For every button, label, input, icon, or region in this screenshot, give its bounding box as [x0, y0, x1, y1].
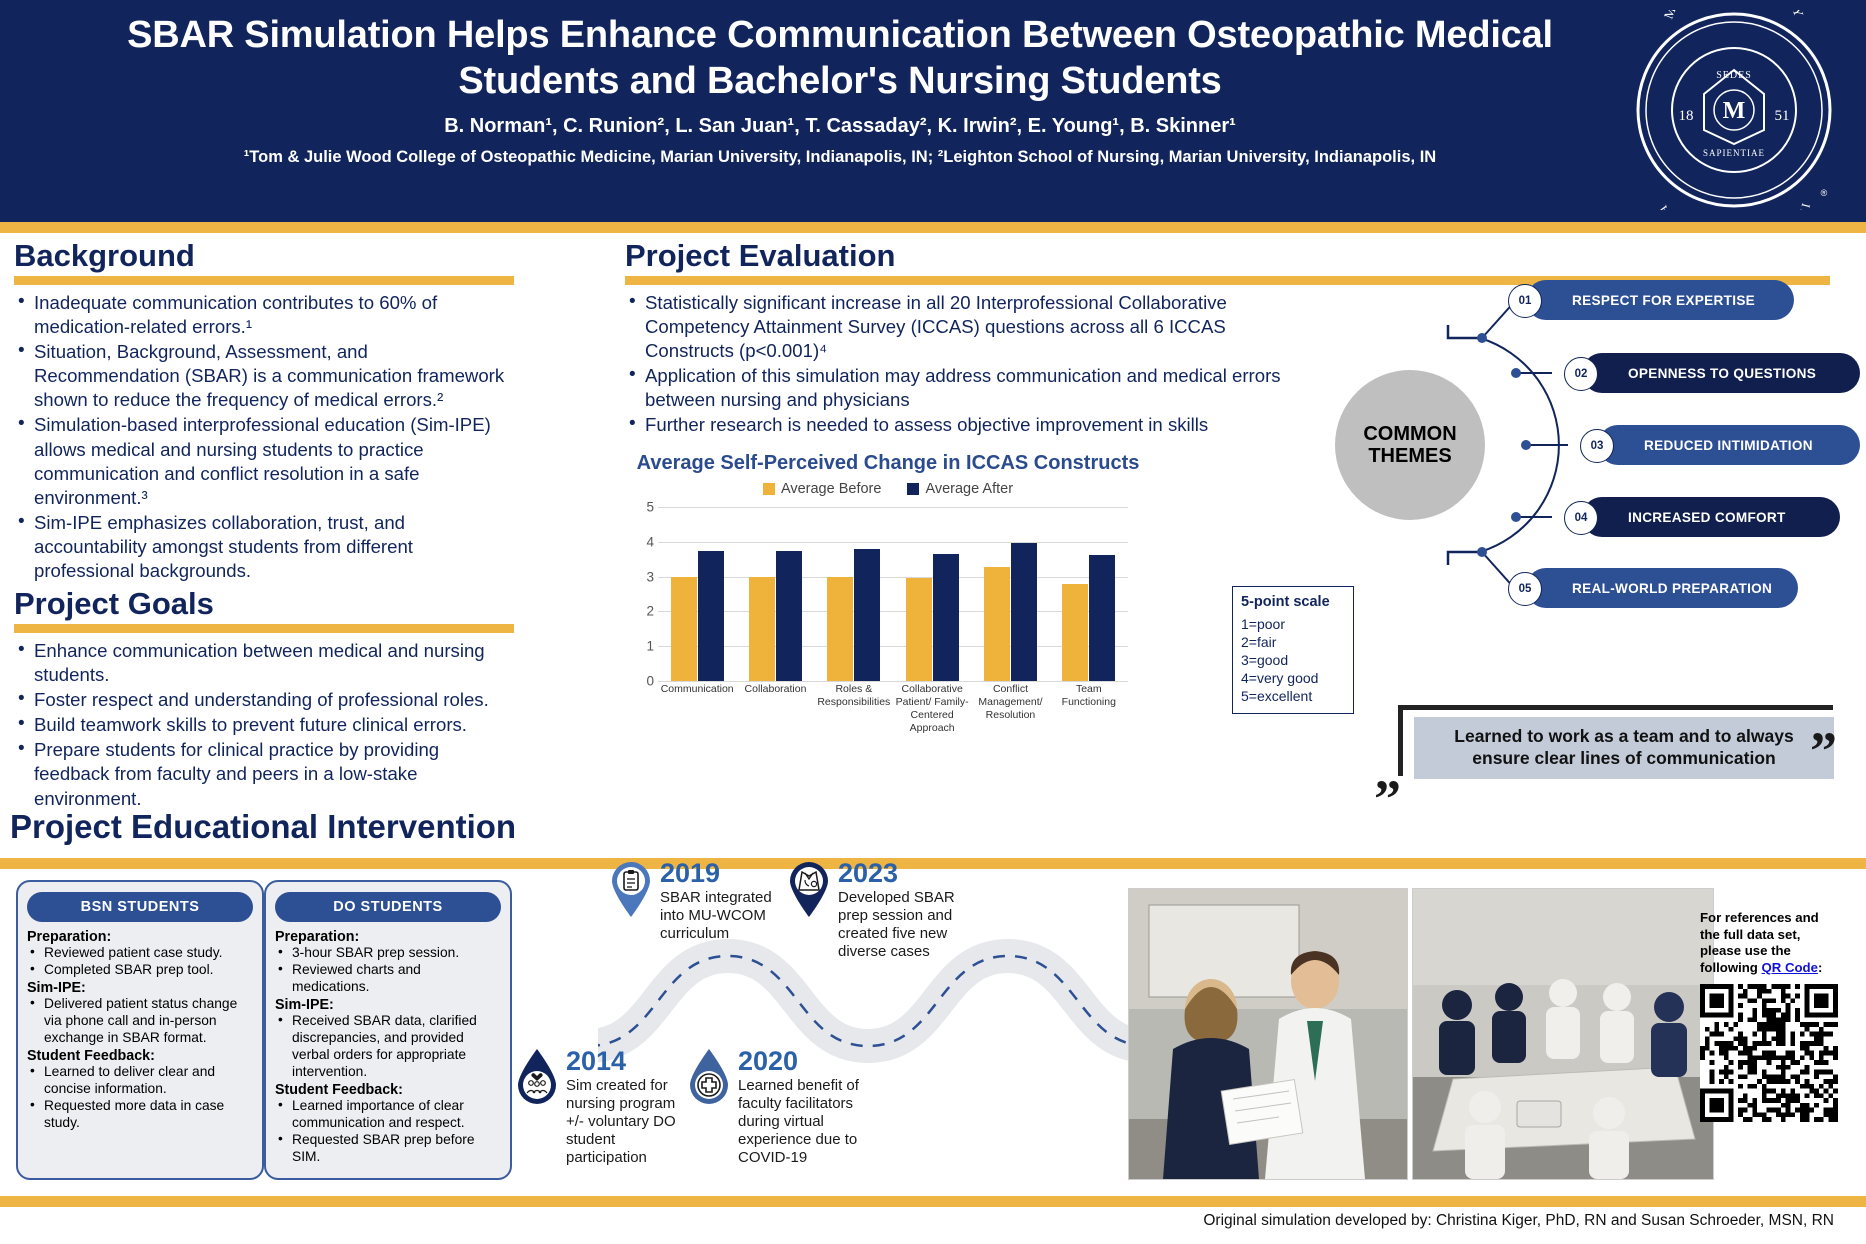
legend-label-after: Average After — [925, 481, 1013, 497]
qr-code-link[interactable]: QR Code — [1762, 960, 1818, 975]
theme-number-02: 02 — [1564, 357, 1598, 391]
chart-y-axis: 5 4 3 2 1 0 — [628, 507, 658, 681]
theme-pill-05: REAL-WORLD PREPARATION — [1526, 568, 1798, 608]
theme-label: OPENNESS TO QUESTIONS — [1628, 366, 1816, 381]
qr-caption-line-3: please use the — [1700, 943, 1850, 960]
lab-coat-stethoscope-icon — [786, 860, 832, 918]
card-section-list: Learned to deliver clear and concise inf… — [27, 1064, 253, 1132]
theme-pill-02: OPENNESS TO QUESTIONS — [1582, 353, 1860, 393]
x-tick-label: Team Functioning — [1050, 683, 1128, 736]
svg-text:18: 18 — [1679, 108, 1694, 124]
qr-code-block: For references and the full data set, pl… — [1700, 910, 1850, 1127]
list-item: Build teamwork skills to prevent future … — [14, 713, 514, 737]
goals-bullet-list: Enhance communication between medical an… — [14, 639, 514, 811]
x-tick-label: Roles & Responsibilities — [815, 683, 893, 736]
list-item: Reviewed patient case study. — [27, 945, 253, 962]
theme-pill-01: RESPECT FOR EXPERTISE — [1526, 280, 1794, 320]
y-tick: 2 — [646, 604, 654, 619]
bar-group — [749, 507, 802, 681]
project-timeline: 2019 SBAR integrated into MU-WCOM curric… — [598, 866, 1138, 1196]
medical-cross-icon — [686, 1048, 732, 1106]
list-item: Sim-IPE emphasizes collaboration, trust,… — [14, 511, 514, 584]
card-section-label: Preparation: — [275, 929, 501, 945]
background-heading: Background — [14, 240, 514, 273]
bar-group — [1062, 507, 1115, 681]
qr-caption-line-2: the full data set, — [1700, 927, 1850, 944]
y-tick: 1 — [646, 639, 654, 654]
bsn-students-card: BSN STUDENTS Preparation: Reviewed patie… — [16, 880, 264, 1180]
background-bullet-list: Inadequate communication contributes to … — [14, 291, 514, 584]
footer-gold-rule — [0, 1196, 1866, 1207]
scale-title: 5-point scale — [1241, 594, 1345, 610]
card-section-label: Student Feedback: — [27, 1048, 253, 1064]
list-item: Learned importance of clear communicatio… — [275, 1098, 501, 1132]
intervention-heading: Project Educational Intervention — [10, 810, 530, 845]
list-item: Statistically significant increase in al… — [625, 291, 1285, 364]
photo-1-content — [1129, 889, 1407, 1179]
quote-mark-close: ” — [1810, 735, 1837, 767]
iccas-bar-chart: Average Self-Perceived Change in ICCAS C… — [628, 452, 1148, 722]
svg-text:SAPIENTIAE: SAPIENTIAE — [1703, 148, 1765, 158]
timeline-text: Sim created for nursing program +/- volu… — [566, 1077, 688, 1167]
y-tick: 4 — [646, 534, 654, 549]
theme-number-01: 01 — [1508, 284, 1542, 318]
bar-before — [984, 567, 1010, 681]
theme-label: RESPECT FOR EXPERTISE — [1572, 293, 1755, 308]
scale-row: 1=poor — [1241, 616, 1345, 634]
card-section-label: Preparation: — [27, 929, 253, 945]
theme-number-04: 04 — [1564, 501, 1598, 535]
qr-caption-prefix: following — [1700, 960, 1762, 975]
timeline-text: SBAR integrated into MU-WCOM curriculum — [660, 889, 778, 943]
evaluation-section: Project Evaluation Statistically signifi… — [625, 240, 1315, 439]
poster-header: SBAR Simulation Helps Enhance Communicat… — [0, 0, 1866, 222]
page-title: SBAR Simulation Helps Enhance Communicat… — [30, 12, 1650, 105]
university-seal-icon: MARIAN UNIVERSITY INDIANAPOLIS · INDIANA… — [1634, 10, 1834, 210]
evaluation-bullet-list: Statistically significant increase in al… — [625, 291, 1285, 438]
author-list: B. Norman¹, C. Runion², L. San Juan¹, T.… — [30, 115, 1650, 138]
photo-2-content — [1413, 889, 1713, 1179]
y-tick: 3 — [646, 569, 654, 584]
legend-swatch-before — [763, 483, 775, 495]
legend-item-before: Average Before — [763, 481, 882, 497]
project-goals-section: Project Goals Enhance communication betw… — [14, 588, 514, 812]
intervention-section: Project Educational Intervention — [10, 810, 530, 845]
theme-label: REAL-WORLD PREPARATION — [1572, 581, 1772, 596]
list-item: Reviewed charts and medications. — [275, 962, 501, 996]
card-section-label: Student Feedback: — [275, 1082, 501, 1098]
card-section-list: 3-hour SBAR prep session. Reviewed chart… — [275, 945, 501, 996]
timeline-text: Developed SBAR prep session and created … — [838, 889, 958, 961]
bar-after — [1089, 555, 1115, 681]
affiliation-list: ¹Tom & Julie Wood College of Osteopathic… — [30, 148, 1650, 167]
x-tick-label: Collaboration — [736, 683, 814, 736]
background-underline — [14, 276, 514, 285]
people-heart-icon — [514, 1048, 560, 1106]
list-item: Received SBAR data, clarified discrepanc… — [275, 1013, 501, 1081]
x-tick-label: Communication — [658, 683, 736, 736]
y-tick: 0 — [646, 674, 654, 689]
list-item: Simulation-based interprofessional educa… — [14, 413, 514, 510]
list-item: Prepare students for clinical practice b… — [14, 738, 514, 811]
scale-row: 5=excellent — [1241, 688, 1345, 706]
y-tick: 5 — [646, 500, 654, 515]
quote-mark-open: ” — [1374, 783, 1401, 815]
do-students-card: DO STUDENTS Preparation: 3-hour SBAR pre… — [264, 880, 512, 1180]
svg-text:M: M — [1723, 98, 1746, 124]
theme-pill-03: REDUCED INTIMIDATION — [1598, 425, 1860, 465]
evaluation-heading: Project Evaluation — [625, 240, 1315, 273]
qr-caption-line-4: following QR Code: — [1700, 960, 1850, 977]
card-section-label: Sim-IPE: — [275, 997, 501, 1013]
credit-line: Original simulation developed by: Christ… — [0, 1212, 1850, 1230]
bar-group — [827, 507, 880, 681]
theme-label: INCREASED COMFORT — [1628, 510, 1786, 525]
header-gold-rule — [0, 222, 1866, 233]
chart-x-labels: CommunicationCollaborationRoles & Respon… — [658, 683, 1128, 736]
clipboard-icon — [608, 860, 654, 918]
card-section-list: Received SBAR data, clarified discrepanc… — [275, 1013, 501, 1081]
list-item: Requested more data in case study. — [27, 1098, 253, 1132]
timeline-year: 2020 — [738, 1048, 888, 1075]
bar-before — [906, 578, 932, 681]
card-title-do: DO STUDENTS — [275, 892, 501, 922]
bar-after — [776, 551, 802, 681]
chart-legend: Average Before Average After — [628, 481, 1148, 497]
list-item: Enhance communication between medical an… — [14, 639, 514, 687]
timeline-year: 2023 — [838, 860, 958, 887]
list-item: Requested SBAR prep before SIM. — [275, 1132, 501, 1166]
legend-item-after: Average After — [907, 481, 1013, 497]
list-item: Inadequate communication contributes to … — [14, 291, 514, 339]
chart-bars — [658, 507, 1128, 681]
scale-row: 3=good — [1241, 652, 1345, 670]
bar-group — [671, 507, 724, 681]
bar-before — [1062, 584, 1088, 681]
chart-plot-area: 5 4 3 2 1 0 CommunicationCollaborationRo… — [628, 507, 1128, 681]
x-tick-label: Conflict Management/ Resolution — [971, 683, 1049, 736]
theme-label: REDUCED INTIMIDATION — [1644, 438, 1813, 453]
hub-line-2: THEMES — [1368, 445, 1451, 467]
bar-before — [671, 577, 697, 681]
card-section-list: Learned importance of clear communicatio… — [275, 1098, 501, 1166]
card-section-list: Reviewed patient case study. Completed S… — [27, 945, 253, 979]
bar-after — [1011, 543, 1037, 682]
bar-group — [906, 507, 959, 681]
theme-pill-04: INCREASED COMFORT — [1582, 497, 1840, 537]
list-item: 3-hour SBAR prep session. — [275, 945, 501, 962]
poster-canvas: SBAR Simulation Helps Enhance Communicat… — [0, 0, 1866, 1244]
qr-caption-suffix: : — [1818, 960, 1822, 975]
qr-caption-line-1: For references and — [1700, 910, 1850, 927]
student-quote: Learned to work as a team and to always … — [1392, 705, 1840, 781]
legend-label-before: Average Before — [781, 481, 882, 497]
timeline-year: 2019 — [660, 860, 778, 887]
qr-code-icon[interactable] — [1700, 984, 1838, 1122]
bar-after — [933, 554, 959, 681]
card-section-list: Delivered patient status change via phon… — [27, 996, 253, 1047]
project-goals-heading: Project Goals — [14, 588, 514, 621]
timeline-text: Learned benefit of faculty facilitators … — [738, 1077, 888, 1167]
scale-row: 4=very good — [1241, 670, 1345, 688]
title-line-1: SBAR Simulation Helps Enhance Communicat… — [30, 12, 1650, 58]
hub-line-1: COMMON — [1363, 423, 1456, 445]
card-title-bsn: BSN STUDENTS — [27, 892, 253, 922]
title-line-2: Students and Bachelor's Nursing Students — [30, 58, 1650, 104]
background-section: Background Inadequate communication cont… — [14, 240, 514, 585]
header-text-block: SBAR Simulation Helps Enhance Communicat… — [30, 12, 1650, 167]
x-tick-label: Collaborative Patient/ Family-Centered A… — [893, 683, 971, 736]
five-point-scale-legend: 5-point scale 1=poor 2=fair 3=good 4=ver… — [1232, 586, 1354, 714]
theme-number-03: 03 — [1580, 429, 1614, 463]
bar-before — [749, 577, 775, 681]
scale-row: 2=fair — [1241, 634, 1345, 652]
bar-before — [827, 577, 853, 681]
bar-after — [854, 549, 880, 681]
list-item: Delivered patient status change via phon… — [27, 996, 253, 1047]
list-item: Situation, Background, Assessment, and R… — [14, 340, 514, 413]
list-item: Further research is needed to assess obj… — [625, 413, 1285, 437]
common-themes-hub: COMMON THEMES — [1335, 370, 1485, 520]
list-item: Learned to deliver clear and concise inf… — [27, 1064, 253, 1098]
qr-caption: For references and the full data set, pl… — [1700, 910, 1850, 976]
timeline-year: 2014 — [566, 1048, 688, 1075]
common-themes-diagram: COMMON THEMES RESPECT FOR EXPERTISE 01 O… — [1330, 290, 1860, 590]
list-item: Foster respect and understanding of prof… — [14, 688, 514, 712]
svg-text:51: 51 — [1775, 108, 1790, 124]
quote-text: Learned to work as a team and to always … — [1414, 717, 1834, 779]
chart-title: Average Self-Perceived Change in ICCAS C… — [628, 452, 1148, 475]
list-item: Application of this simulation may addre… — [625, 364, 1285, 412]
bar-group — [984, 507, 1037, 681]
list-item: Completed SBAR prep tool. — [27, 962, 253, 979]
bar-after — [698, 551, 724, 681]
svg-text:®: ® — [1821, 188, 1828, 198]
card-section-label: Sim-IPE: — [27, 980, 253, 996]
theme-number-05: 05 — [1508, 572, 1542, 606]
photo-classroom-debrief — [1412, 888, 1714, 1180]
photo-simulation-handoff — [1128, 888, 1408, 1180]
goals-underline — [14, 624, 514, 633]
legend-swatch-after — [907, 483, 919, 495]
